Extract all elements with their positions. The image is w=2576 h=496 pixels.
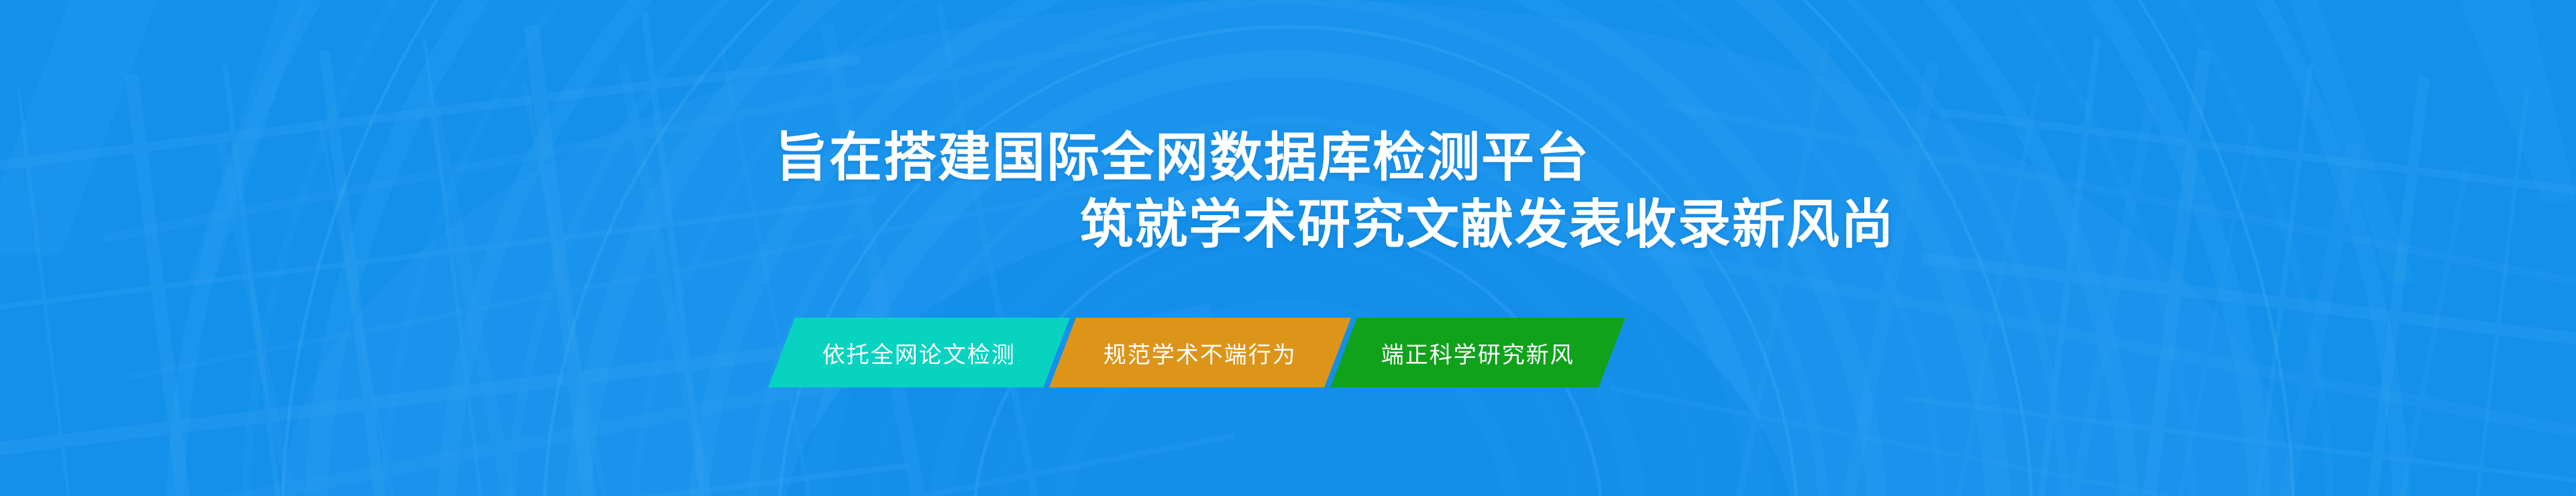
headline-line-1: 旨在搭建国际全网数据库检测平台 [0, 124, 2576, 191]
feature-tag-label: 端正科学研究新风 [1381, 336, 1574, 369]
feature-tag-integrity[interactable]: 端正科学研究新风 [1330, 318, 1625, 387]
feature-tag-label: 规范学术不端行为 [1104, 336, 1297, 369]
feature-tag-label: 依托全网论文检测 [822, 336, 1016, 369]
headline-line-2: 筑就学术研究文献发表收录新风尚 [0, 191, 2576, 258]
feature-tag-detection[interactable]: 依托全网论文检测 [768, 318, 1070, 387]
feature-tag-band: 依托全网论文检测 规范学术不端行为 端正科学研究新风 [782, 318, 1612, 387]
feature-tag-misconduct[interactable]: 规范学术不端行为 [1049, 318, 1351, 387]
promo-banner: 旨在搭建国际全网数据库检测平台 筑就学术研究文献发表收录新风尚 依托全网论文检测… [0, 0, 2576, 496]
headline-group: 旨在搭建国际全网数据库检测平台 筑就学术研究文献发表收录新风尚 [0, 124, 2576, 258]
